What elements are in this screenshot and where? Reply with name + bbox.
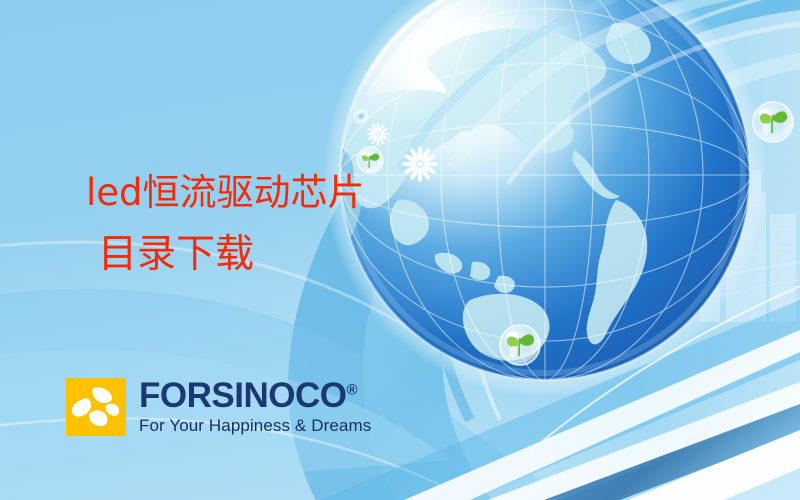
- city-skyline: [560, 170, 800, 345]
- top-arcs: [400, 0, 800, 184]
- four-petal-pinwheel-icon: [66, 378, 126, 436]
- logo-tagline: For Your Happiness & Dreams: [139, 416, 371, 436]
- bubble-small-top: [354, 109, 368, 123]
- registered-trademark-icon: ®: [346, 381, 357, 398]
- company-logo: FORSINOCO® For Your Happiness & Dreams: [66, 378, 371, 436]
- sparkle-flower-2: [367, 123, 390, 146]
- corner-swoosh-ribbons: [320, 286, 800, 500]
- logo-company-name: FORSINOCO®: [139, 379, 371, 413]
- sparkle-flower-1: [402, 146, 439, 183]
- headline: led恒流驱动芯片 目录下载: [86, 162, 365, 286]
- logo-company-name-text: FORSINOCO: [139, 376, 346, 415]
- headline-line-1: led恒流驱动芯片: [86, 171, 365, 214]
- logo-wordmark: FORSINOCO® For Your Happiness & Dreams: [139, 378, 371, 436]
- promo-banner: led恒流驱动芯片 目录下载 FORSINOCO® For Your Happi…: [0, 0, 800, 500]
- bubble-sprout-lower: [500, 325, 540, 365]
- headline-line-2: 目录下载: [98, 224, 365, 286]
- bubble-sprout-right: [753, 102, 793, 142]
